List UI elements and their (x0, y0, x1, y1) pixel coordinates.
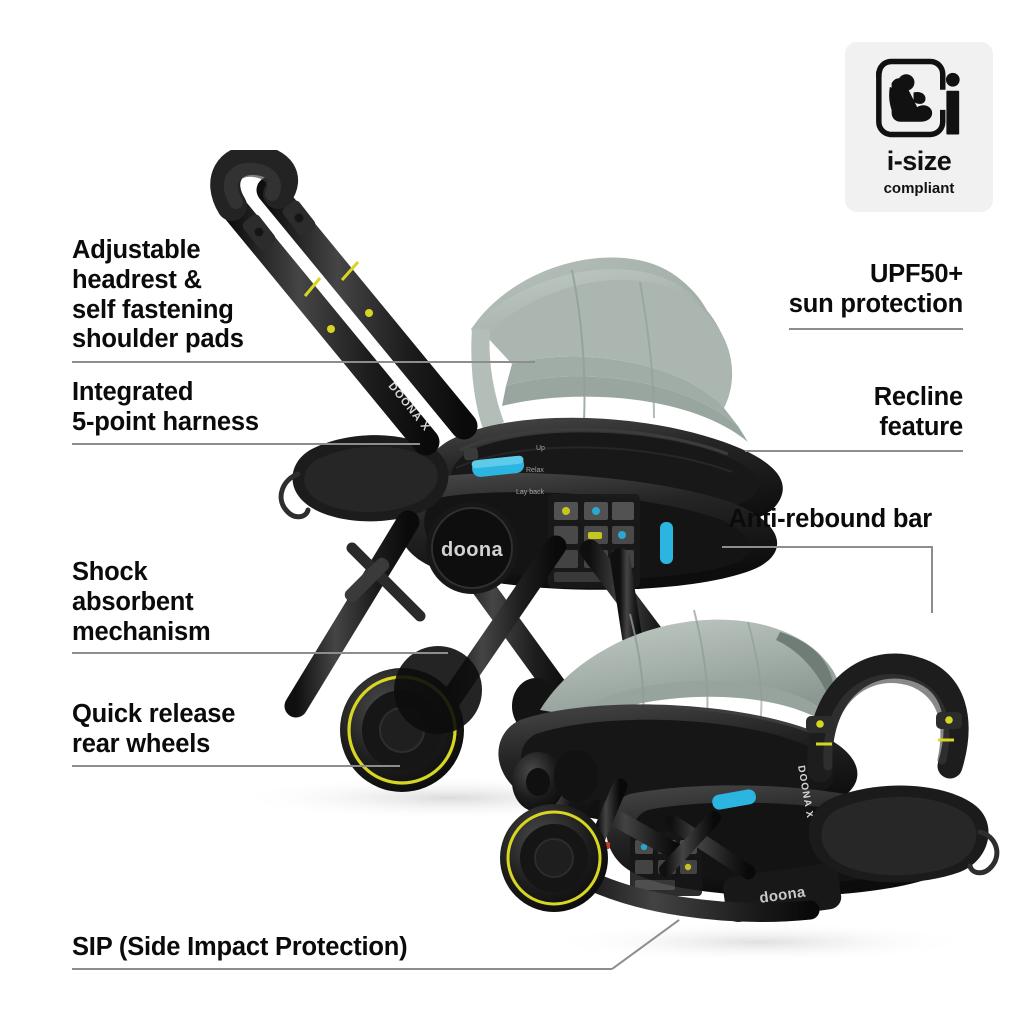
leader-line-adjustable-headrest (72, 361, 535, 363)
callout-anti-rebound-bar: Anti-rebound bar (728, 505, 932, 535)
child-in-car-seat-icon (873, 56, 965, 140)
callout-side-impact-protection: SIP (Side Impact Protection) (72, 933, 407, 963)
infographic-canvas: Up Relax Lay back (0, 0, 1024, 1024)
leader-line-anti-rebound-bar (722, 546, 932, 548)
leader-line-upf50-sun-protection (789, 328, 963, 330)
callout-shock-absorbent: Shock absorbent mechanism (72, 558, 211, 647)
svg-text:Lay back: Lay back (516, 489, 545, 496)
leader-line-side-impact-protection (72, 968, 612, 970)
badge-title: i-size (887, 148, 952, 175)
i-size-compliant-badge: i-size compliant (845, 42, 993, 212)
leader-line-recline-feature (745, 450, 963, 452)
callout-quick-release-wheels: Quick release rear wheels (72, 700, 235, 760)
leader-line-integrated-harness (72, 443, 420, 445)
callout-recline-feature: Recline feature (874, 383, 963, 443)
badge-subtitle: compliant (884, 181, 955, 196)
callout-integrated-harness: Integrated 5-point harness (72, 378, 259, 438)
callout-adjustable-headrest: Adjustable headrest & self fastening sho… (72, 236, 244, 355)
callout-upf50-sun-protection: UPF50+ sun protection (789, 260, 963, 320)
svg-text:doona: doona (441, 539, 503, 561)
leader-line-anti-rebound-bar-drop (931, 546, 933, 613)
svg-text:Relax: Relax (526, 467, 544, 474)
svg-text:Up: Up (536, 445, 545, 452)
leader-line-quick-release-wheels (72, 765, 400, 767)
product-image-car-seat-mode: doona (480, 570, 1020, 970)
leader-line-shock-absorbent (72, 652, 448, 654)
